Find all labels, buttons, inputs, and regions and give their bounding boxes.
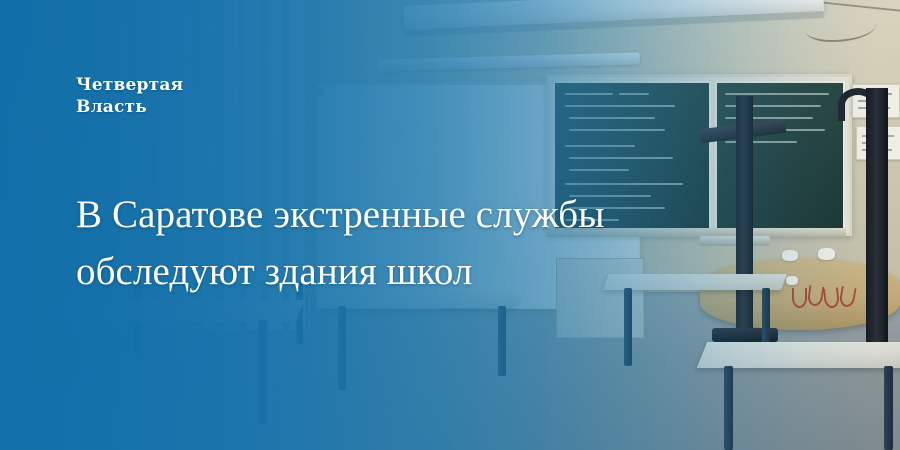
site-logo-line-2: Власть: [76, 96, 183, 118]
news-preview-card: Четвертая Власть В Саратове экстренные с…: [0, 0, 900, 450]
site-logo-line-1: Четвертая: [76, 74, 183, 96]
article-headline: В Саратове экстренные службы обследуют з…: [76, 186, 716, 300]
site-logo[interactable]: Четвертая Власть: [76, 74, 183, 118]
card-content: Четвертая Власть В Саратове экстренные с…: [0, 0, 900, 450]
